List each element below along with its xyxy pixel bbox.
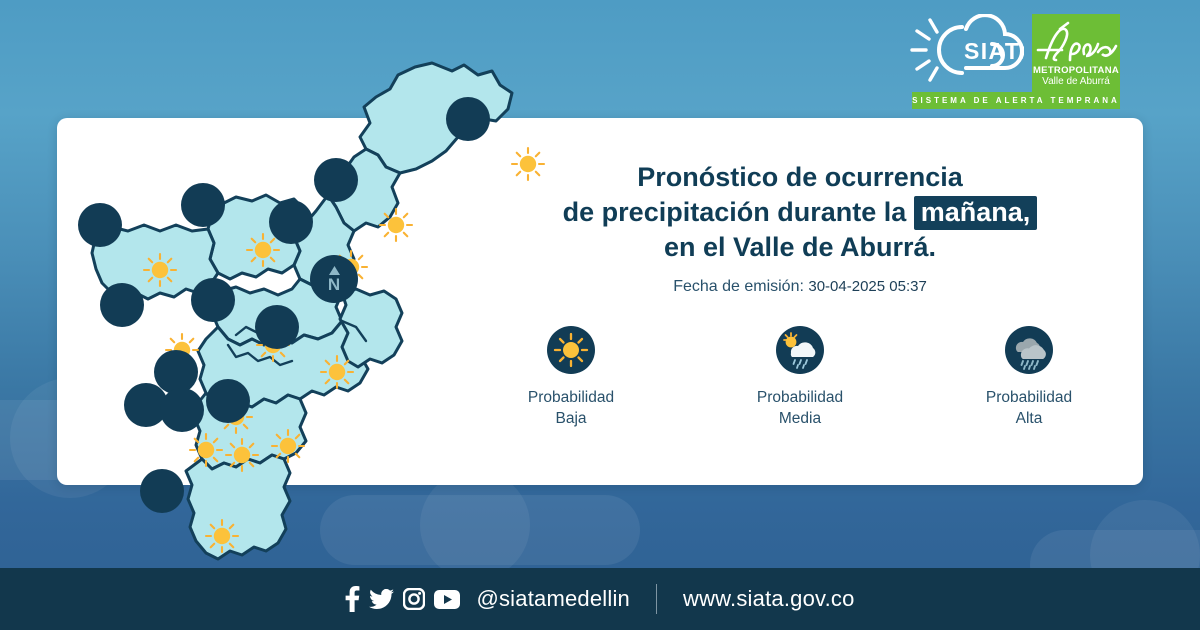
emission-label: Fecha de emisión:	[673, 278, 804, 295]
legend-label-line1: Probabilidad	[986, 387, 1072, 408]
twitter-icon[interactable]	[369, 589, 394, 610]
legend-label-media: Probabilidad Media	[757, 387, 843, 429]
tagline-band: SISTEMA DE ALERTA TEMPRANA	[912, 92, 1120, 109]
footer-bar: @siatamedellin www.siata.gov.co	[0, 568, 1200, 630]
social-icons	[345, 586, 460, 612]
legend-label-alta: Probabilidad Alta	[986, 387, 1072, 429]
probability-legend: Probabilidad Baja	[470, 326, 1130, 429]
social-handle[interactable]: @siatamedellin	[476, 586, 630, 612]
siata-logo: SIATA	[904, 14, 1024, 86]
title-line-2-text: de precipitación durante la	[563, 197, 907, 227]
compass-rose: N	[310, 255, 358, 303]
legend-label-baja: Probabilidad Baja	[528, 387, 614, 429]
legend-label-line1: Probabilidad	[757, 387, 843, 408]
area-script-icon	[1032, 18, 1120, 66]
title-highlight: mañana,	[914, 196, 1038, 230]
background-cloud	[420, 470, 530, 580]
infographic-root: N SIATA	[0, 0, 1200, 630]
north-arrow-icon	[328, 266, 341, 275]
legend-label-line2: Baja	[528, 408, 614, 429]
legend-item-media: Probabilidad Media	[728, 326, 873, 429]
siata-wordmark: SIATA	[964, 38, 1024, 64]
legend-item-baja: Probabilidad Baja	[499, 326, 644, 429]
area-metropolitana-logo: METROPOLITANA Valle de Aburrá	[1032, 14, 1120, 92]
tagline-text: SISTEMA DE ALERTA TEMPRANA	[912, 96, 1120, 105]
emission-date: Fecha de emisión: 30-04-2025 05:37	[470, 278, 1130, 296]
emission-value: 30-04-2025 05:37	[808, 278, 926, 295]
compass-north-label: N	[328, 276, 340, 293]
instagram-icon[interactable]	[403, 588, 425, 610]
title-line-2: de precipitación durante la mañana,	[470, 195, 1130, 230]
sun-rain-cloud-icon	[776, 326, 824, 374]
legend-item-alta: Probabilidad Alta	[957, 326, 1102, 429]
forecast-panel: Pronóstico de ocurrencia de precipitació…	[470, 160, 1130, 429]
area-logo-line1: METROPOLITANA	[1033, 65, 1119, 76]
area-logo-line2: Valle de Aburrá	[1042, 76, 1110, 88]
legend-label-line2: Alta	[986, 408, 1072, 429]
facebook-icon[interactable]	[345, 586, 360, 612]
sun-icon	[547, 326, 595, 374]
rain-cloud-icon	[1005, 326, 1053, 374]
title-line-1: Pronóstico de ocurrencia	[470, 160, 1130, 195]
title-line-3: en el Valle de Aburrá.	[470, 230, 1130, 265]
forecast-title: Pronóstico de ocurrencia de precipitació…	[470, 160, 1130, 265]
footer-divider	[656, 584, 657, 614]
header-logos: SIATA METROPOLITANA Valle de Aburrá	[904, 14, 1120, 92]
youtube-icon[interactable]	[434, 590, 460, 609]
website-url[interactable]: www.siata.gov.co	[683, 586, 855, 612]
legend-label-line2: Media	[757, 408, 843, 429]
legend-label-line1: Probabilidad	[528, 387, 614, 408]
